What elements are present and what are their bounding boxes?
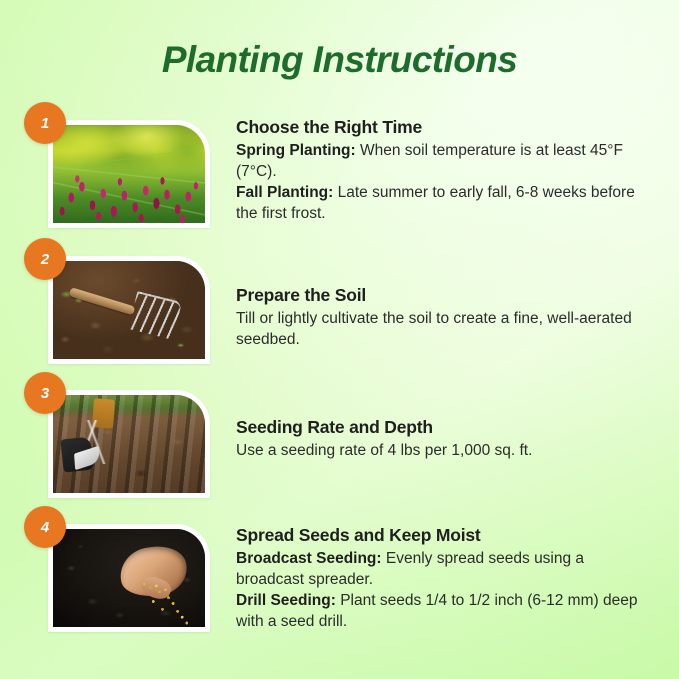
step-item: 4 Spread Seeds and Keep Moist bbox=[24, 506, 655, 632]
photo-frame bbox=[48, 390, 210, 498]
step-heading: Choose the Right Time bbox=[236, 116, 645, 138]
step-item: 2 Prepare the Soil Till or lightly cult bbox=[24, 238, 655, 364]
step-heading: Prepare the Soil bbox=[236, 284, 645, 306]
step-heading: Spread Seeds and Keep Moist bbox=[236, 524, 645, 546]
step-number-badge: 4 bbox=[24, 506, 66, 548]
step-heading: Seeding Rate and Depth bbox=[236, 416, 645, 438]
rake-on-soil-photo bbox=[53, 261, 205, 359]
step-media: 3 bbox=[24, 372, 210, 498]
photo-frame bbox=[48, 256, 210, 364]
step-copy: Prepare the Soil Till or lightly cultiva… bbox=[210, 238, 655, 350]
planting-instructions-poster: Planting Instructions 1 bbox=[0, 0, 679, 679]
step-media: 1 bbox=[24, 102, 210, 228]
step-media: 2 bbox=[24, 238, 210, 364]
photo-frame bbox=[48, 524, 210, 632]
step-body: Broadcast Seeding: Evenly spread seeds u… bbox=[236, 548, 645, 632]
photo-frame bbox=[48, 120, 210, 228]
step-number-badge: 2 bbox=[24, 238, 66, 280]
step-number-badge: 1 bbox=[24, 102, 66, 144]
steps-list: 1 Choose the Right Time Spring Planting: bbox=[0, 102, 679, 632]
hand-sowing-seeds-photo bbox=[53, 529, 205, 627]
step-copy: Choose the Right Time Spring Planting: W… bbox=[210, 102, 655, 224]
step-number-badge: 3 bbox=[24, 372, 66, 414]
step-item: 3 Se bbox=[24, 372, 655, 498]
step-body-lead: Spring Planting: bbox=[236, 142, 356, 159]
seeds-icon bbox=[53, 529, 205, 627]
step-body-lead: Drill Seeding: bbox=[236, 592, 336, 609]
seed-drill-furrows-photo bbox=[53, 395, 205, 493]
step-body: Till or lightly cultivate the soil to cr… bbox=[236, 308, 645, 350]
step-copy: Seeding Rate and Depth Use a seeding rat… bbox=[210, 372, 655, 461]
crimson-clover-field-photo bbox=[53, 125, 205, 223]
step-body: Spring Planting: When soil temperature i… bbox=[236, 140, 645, 224]
step-item: 1 Choose the Right Time Spring Planting: bbox=[24, 102, 655, 228]
page-title: Planting Instructions bbox=[0, 0, 679, 82]
step-body: Use a seeding rate of 4 lbs per 1,000 sq… bbox=[236, 440, 645, 461]
step-body-lead: Broadcast Seeding: bbox=[236, 550, 382, 567]
step-copy: Spread Seeds and Keep Moist Broadcast Se… bbox=[210, 506, 655, 632]
step-body-lead: Fall Planting: bbox=[236, 184, 333, 201]
step-media: 4 bbox=[24, 506, 210, 632]
